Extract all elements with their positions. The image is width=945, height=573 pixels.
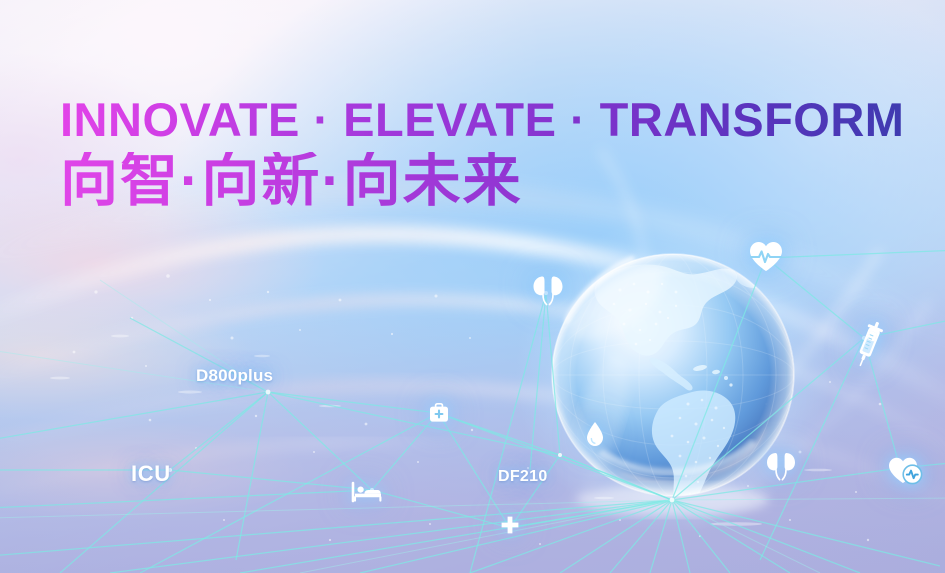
water-drop-icon	[584, 420, 606, 448]
heart-pulse-circle-icon	[886, 452, 924, 486]
kidneys-icon	[528, 272, 568, 310]
product-label-d800plus: D800plus	[196, 366, 273, 386]
product-label-df210: DF210	[498, 468, 548, 486]
background-sky-glow	[0, 0, 945, 573]
page-subtitle: 向智·向新·向未来	[60, 152, 904, 210]
syringe-icon	[852, 320, 886, 368]
page-title: INNOVATE · ELEVATE · TRANSFORM	[60, 96, 904, 143]
crystal-globe	[0, 0, 945, 573]
background-base-gradient	[0, 0, 945, 573]
background-light-ribbons	[0, 0, 945, 573]
kidneys-dialysis-icon	[762, 450, 800, 484]
background-warm-swirls	[0, 0, 945, 573]
product-label-icu: ICU	[131, 461, 171, 487]
heart-ecg-icon	[746, 238, 786, 274]
background-particles	[0, 0, 945, 573]
hospital-bed-icon	[351, 481, 383, 503]
background-lavender-haze	[0, 0, 945, 573]
medical-bag-icon	[428, 402, 450, 424]
medical-cross-icon	[500, 515, 520, 535]
hero-text-block: INNOVATE · ELEVATE · TRANSFORM 向智·向新·向未来	[60, 96, 904, 210]
network-connection-lines	[0, 0, 945, 573]
background-vignette	[0, 0, 945, 573]
hero-banner: INNOVATE · ELEVATE · TRANSFORM 向智·向新·向未来…	[0, 0, 945, 573]
